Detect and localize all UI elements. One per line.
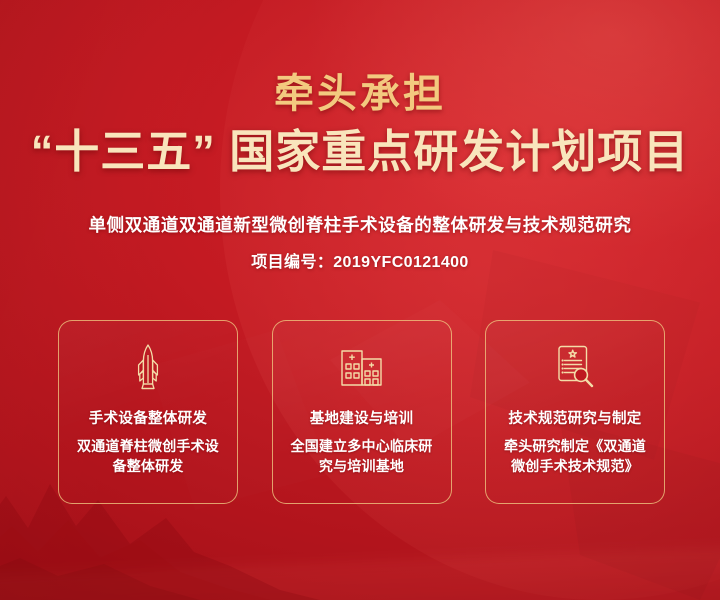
feature-card-title: 技术规范研究与制定 — [508, 407, 641, 428]
rocket-icon — [126, 343, 170, 391]
feature-card-list: 手术设备整体研发 双通道脊柱微创手术设备整体研发 — [58, 320, 665, 504]
hospital-building-icon — [340, 343, 384, 391]
project-subtitle: 单侧双通道双通道新型微创脊柱手术设备的整体研发与技术规范研究 — [0, 212, 720, 237]
headline-line-1: 牵头承担 — [0, 74, 720, 114]
poster-canvas: 牵头承担 “十三五” 国家重点研发计划项目 单侧双通道双通道新型微创脊柱手术设备… — [0, 0, 720, 600]
feature-card-title: 手术设备整体研发 — [89, 407, 207, 428]
feature-card-description: 全国建立多中心临床研究与培训基地 — [284, 437, 440, 477]
feature-card-title: 基地建设与培训 — [310, 407, 414, 428]
feature-card-base-training[interactable]: 基地建设与培训 全国建立多中心临床研究与培训基地 — [272, 320, 452, 504]
feature-card-description: 双通道脊柱微创手术设备整体研发 — [70, 437, 226, 477]
headline-block: 牵头承担 “十三五” 国家重点研发计划项目 — [0, 74, 720, 175]
feature-card-description: 牵头研究制定《双通道微创手术技术规范》 — [497, 437, 653, 477]
feature-card-equipment-rd[interactable]: 手术设备整体研发 双通道脊柱微创手术设备整体研发 — [58, 320, 238, 504]
background-band-lower — [0, 542, 720, 600]
headline-line-2: “十三五” 国家重点研发计划项目 — [0, 128, 720, 175]
document-magnifier-icon — [553, 343, 597, 391]
feature-card-tech-standard[interactable]: 技术规范研究与制定 牵头研究制定《双通道微创手术技术规范》 — [485, 320, 665, 504]
project-number: 项目编号：2019YFC0121400 — [0, 248, 720, 272]
